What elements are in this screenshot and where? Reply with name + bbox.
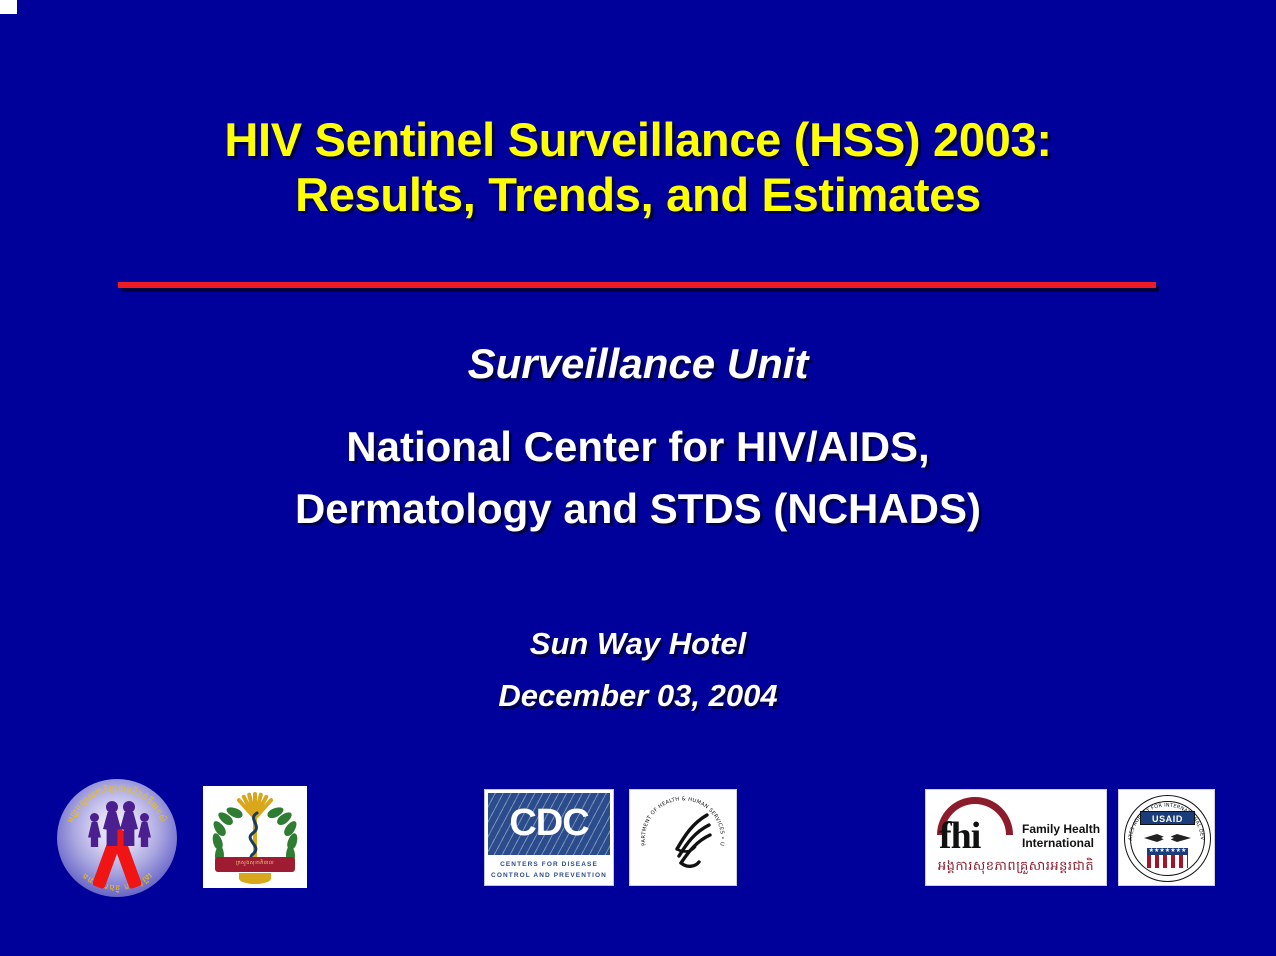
title-line-1: HIV Sentinel Surveillance (HSS) 2003: [0, 112, 1276, 167]
slide-subtitle: Surveillance Unit National Center for HI… [0, 338, 1276, 540]
fhi-wordmark: fhi [939, 817, 980, 855]
slide-title: HIV Sentinel Surveillance (HSS) 2003: Re… [0, 112, 1276, 222]
nchads-figure-adult-left-head [106, 801, 118, 813]
moh-banner: ក្រសួងសុខាភិបាល [215, 857, 295, 872]
nchads-disc: មជ្ឈមណ្ឌលជាតិប្រយុទ្ធនឹងជំងឺអេដស៍ សើស្បែ… [57, 779, 177, 897]
corner-marker [0, 0, 17, 14]
cdc-caption-line-1: CENTERS FOR DISEASE [485, 861, 613, 868]
moh-banner-text: ក្រសួងសុខាភិបាល [215, 860, 295, 867]
nchads-figure-child-right-head [140, 813, 149, 822]
title-line-2: Results, Trends, and Estimates [0, 167, 1276, 222]
usaid-shield-stripes [1147, 855, 1188, 868]
fhi-full-name-line-2: International [1022, 836, 1100, 850]
nchads-logo: មជ្ឈមណ្ឌលជាតិប្រយុទ្ធនឹងជំងឺអេដស៍ សើស្បែ… [57, 779, 177, 897]
usaid-stars: ★★★★★★★ [1147, 847, 1188, 855]
fhi-full-name-line-1: Family Health [1022, 822, 1100, 836]
slide-venue: Sun Way Hotel December 03, 2004 [0, 618, 1276, 722]
usaid-shield-chief: ★★★★★★★ [1147, 848, 1188, 855]
fhi-full-name: Family Health International [1022, 822, 1100, 850]
hhs-emblem: DEPARTMENT OF HEALTH & HUMAN SERVICES • … [637, 795, 729, 881]
venue-location: Sun Way Hotel [0, 618, 1276, 670]
usaid-handshake [1141, 829, 1194, 846]
usaid-acronym: USAID [1141, 814, 1194, 824]
fhi-logo: fhi Family Health International អង្គការស… [925, 789, 1107, 886]
moh-serpent [237, 810, 273, 864]
svg-text:សើស្បែក និងកាមរោគ: សើស្បែក និងកាមរោគ [80, 871, 154, 893]
nchads-figure-child-left-head [90, 813, 99, 822]
usaid-shield: ★★★★★★★ [1147, 848, 1188, 868]
fhi-khmer-text: អង្គការសុខភាពគ្រួសារអន្តរជាតិ [926, 858, 1106, 877]
title-divider [118, 282, 1156, 292]
cdc-emblem-box: CDC [488, 793, 610, 855]
moh-base-ornament [239, 873, 271, 884]
cdc-acronym: CDC [488, 802, 610, 844]
venue-date: December 03, 2004 [0, 670, 1276, 722]
usaid-name-band: USAID [1140, 811, 1195, 825]
subtitle-unit: Surveillance Unit [0, 338, 1276, 390]
subtitle-organization-line-1: National Center for HIV/AIDS, [0, 416, 1276, 478]
cdc-caption-line-2: CONTROL AND PREVENTION [485, 872, 613, 879]
hhs-logo: DEPARTMENT OF HEALTH & HUMAN SERVICES • … [629, 789, 737, 886]
nchads-figure-adult-right-head [123, 801, 135, 813]
hhs-eagle-and-ring: DEPARTMENT OF HEALTH & HUMAN SERVICES • … [637, 795, 729, 881]
cdc-logo: CDC CENTERS FOR DISEASE CONTROL AND PREV… [484, 789, 614, 886]
usaid-logo: UNITED STATES AGENCY FOR INTERNATIONAL D… [1118, 789, 1215, 886]
subtitle-organization-line-2: Dermatology and STDS (NCHADS) [0, 478, 1276, 540]
divider-rule [118, 282, 1156, 288]
presentation-slide: HIV Sentinel Surveillance (HSS) 2003: Re… [0, 0, 1276, 956]
svg-text:DEPARTMENT OF HEALTH & HUMAN S: DEPARTMENT OF HEALTH & HUMAN SERVICES • … [637, 795, 725, 846]
moh-cambodia-logo: ក្រសួងសុខាភិបាល [203, 786, 307, 888]
